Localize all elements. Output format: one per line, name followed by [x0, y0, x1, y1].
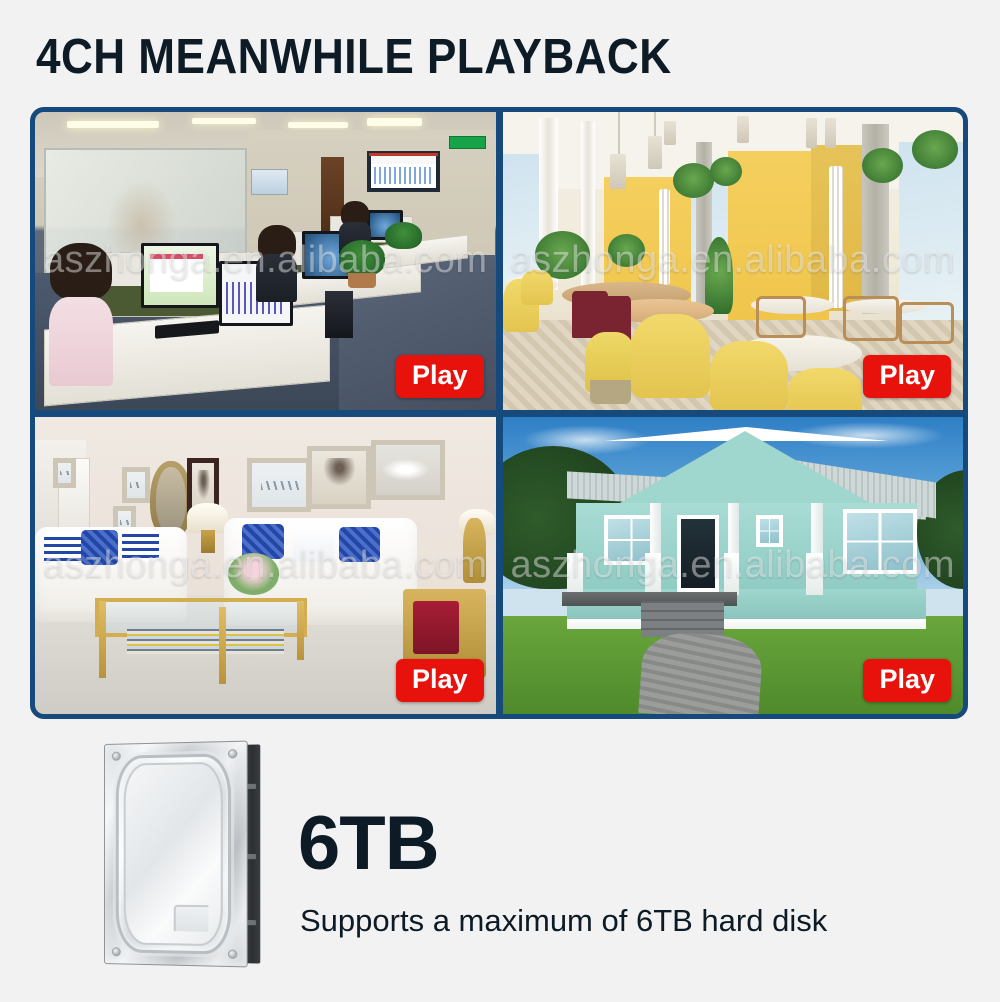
office-plant-pot	[348, 273, 376, 288]
restaurant-plant	[608, 234, 645, 267]
office-ceiling-light	[67, 121, 159, 128]
living-room-picture-frame	[371, 440, 445, 500]
living-room-books	[127, 628, 284, 655]
page-title: 4CH MEANWHILE PLAYBACK	[36, 32, 672, 83]
restaurant-wood-chair	[899, 302, 954, 344]
living-room-cushion	[81, 530, 118, 566]
video-grid: aszhonga.en.alibaba.com Play	[35, 112, 963, 714]
restaurant-pendant-light	[737, 116, 749, 143]
office-ceiling-light	[367, 118, 422, 126]
living-room-cushion	[339, 527, 380, 563]
living-room-picture-frame	[307, 446, 371, 508]
play-button-ch4[interactable]: Play	[863, 659, 951, 702]
restaurant-radiator	[829, 166, 843, 309]
play-button-ch2[interactable]: Play	[863, 355, 951, 398]
living-room-table-leg	[297, 601, 304, 661]
house-steps	[641, 601, 724, 637]
living-room-picture-frame	[122, 467, 150, 503]
restaurant-chair	[710, 341, 788, 409]
living-room-picture-frame	[53, 458, 76, 488]
hdd-screw	[228, 749, 237, 758]
living-room-lamp-shade	[187, 503, 228, 533]
hdd-screw	[228, 949, 237, 958]
house-window	[756, 515, 784, 548]
office-plant	[339, 240, 385, 276]
office-exit-sign	[449, 136, 486, 149]
living-room-flower-vase	[228, 553, 279, 595]
house-window	[843, 509, 917, 574]
office-small-display	[251, 169, 288, 196]
hdd-top-cover	[104, 741, 248, 968]
storage-capacity: 6TB	[298, 806, 439, 882]
restaurant-pendant-light	[825, 118, 836, 148]
video-cell-ch4[interactable]: aszhonga.en.alibaba.com Play	[503, 417, 964, 715]
restaurant-chair	[631, 314, 709, 397]
living-room-lamp-base	[201, 530, 215, 554]
restaurant-chair	[788, 368, 862, 410]
office-ceiling-light	[288, 122, 348, 128]
living-room-table-leg	[99, 601, 106, 678]
house-gable	[613, 431, 877, 507]
living-room-cushion	[122, 530, 159, 563]
living-room-picture-frame	[247, 458, 311, 512]
storage-section: 6TB Supports a maximum of 6TB hard disk	[0, 728, 1000, 1002]
hdd-inner-contour	[116, 753, 231, 954]
office-computer-tower	[325, 291, 353, 339]
house-porch-pier	[806, 553, 823, 595]
living-room-cushion	[44, 533, 81, 566]
restaurant-hanging-plant	[912, 130, 958, 169]
office-ceiling-light	[192, 118, 256, 124]
house-foundation	[567, 619, 926, 629]
house-front-door	[677, 515, 718, 592]
restaurant-stool-base	[590, 380, 631, 404]
office-plant	[385, 222, 422, 249]
office-monitor	[141, 243, 219, 308]
video-grid-frame: aszhonga.en.alibaba.com Play	[30, 107, 968, 719]
video-cell-ch2[interactable]: aszhonga.en.alibaba.com Play	[503, 112, 964, 410]
living-room-cushion	[293, 527, 334, 563]
living-room-chair-upholstery	[413, 601, 459, 655]
restaurant-wood-chair	[843, 296, 898, 341]
hard-disk-icon	[104, 740, 258, 967]
restaurant-pendant-light	[648, 136, 662, 169]
play-button-ch1[interactable]: Play	[396, 355, 484, 398]
office-person	[49, 243, 113, 386]
storage-description: Supports a maximum of 6TB hard disk	[300, 904, 827, 938]
restaurant-radiator	[659, 189, 670, 284]
living-room-gold-object	[463, 518, 486, 583]
video-cell-ch1[interactable]: aszhonga.en.alibaba.com Play	[35, 112, 496, 410]
house-porch-pier	[645, 553, 661, 595]
hdd-inner-contour-2	[124, 762, 223, 947]
play-button-ch3[interactable]: Play	[396, 659, 484, 702]
restaurant-chair	[521, 270, 553, 306]
office-wall-tv	[367, 151, 441, 193]
hdd-notch	[174, 905, 209, 932]
video-cell-ch3[interactable]: aszhonga.en.alibaba.com Play	[35, 417, 496, 715]
restaurant-wood-chair	[756, 296, 807, 338]
restaurant-pendant-light	[610, 154, 626, 190]
restaurant-pendant-light	[806, 118, 817, 148]
restaurant-window	[899, 142, 963, 326]
hdd-screw	[112, 947, 121, 956]
hdd-screw	[112, 752, 121, 761]
restaurant-pendant-cord	[618, 112, 620, 160]
living-room-table-leg	[219, 607, 226, 684]
house-porch-pier	[724, 553, 740, 595]
office-person	[256, 225, 297, 302]
restaurant-hanging-plant	[710, 157, 742, 187]
product-feature-page: 4CH MEANWHILE PLAYBACK	[0, 0, 1000, 1002]
restaurant-pendant-light	[664, 121, 676, 145]
house-porch-pier	[567, 553, 583, 595]
restaurant-plant	[705, 237, 733, 314]
